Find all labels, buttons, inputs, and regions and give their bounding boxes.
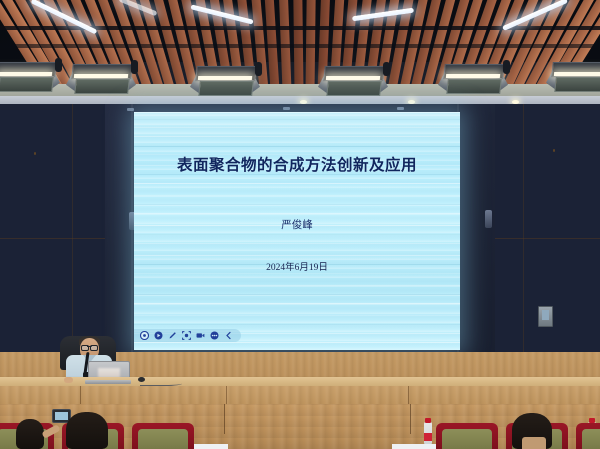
- scanline: [134, 213, 460, 214]
- audience-person: [16, 419, 44, 449]
- zoom-region-icon[interactable]: [182, 331, 191, 340]
- scanline: [134, 119, 460, 120]
- ceiling: [0, 0, 600, 104]
- stage-light: [0, 62, 58, 92]
- audience-chair: [132, 423, 194, 449]
- ceiling-mount: [397, 107, 404, 110]
- next-slide-icon[interactable]: [154, 331, 163, 340]
- previous-slide-icon[interactable]: [140, 331, 149, 340]
- scanline: [134, 127, 460, 128]
- more-options-icon[interactable]: [210, 331, 219, 340]
- presenter-glasses: [81, 345, 98, 349]
- scanline: [134, 146, 460, 147]
- scanline: [134, 183, 460, 184]
- desk-paper: [392, 444, 436, 449]
- stage-light: [68, 64, 134, 94]
- slide-date: 2024年6月19日: [134, 259, 460, 273]
- water-bottle: [424, 422, 432, 444]
- stage-light: [548, 62, 600, 92]
- audience-area: [0, 404, 600, 449]
- scanline: [134, 285, 460, 286]
- scanline: [134, 294, 460, 295]
- scanline: [134, 324, 460, 325]
- scanline: [134, 195, 460, 196]
- audience-person: [66, 412, 108, 449]
- audience-chair: [576, 423, 600, 449]
- scanline: [134, 136, 460, 137]
- scanline: [134, 234, 460, 235]
- presenter-left-hand: [64, 377, 73, 383]
- stage-light: [192, 66, 258, 96]
- wall-speaker: [485, 210, 492, 228]
- audience-chair: [436, 423, 498, 449]
- projection-screen: 表面聚合物的合成方法创新及应用 严俊峰 2024年6月19日: [134, 112, 460, 350]
- scanline: [134, 243, 460, 244]
- pen-annotate-icon[interactable]: [168, 331, 177, 340]
- left-wood-wall: [0, 104, 105, 374]
- lecture-hall-photo: 表面聚合物的合成方法创新及应用 严俊峰 2024年6月19日: [0, 0, 600, 449]
- stage-light: [440, 64, 506, 94]
- presenter-view-icon[interactable]: [196, 331, 205, 340]
- slide-title: 表面聚合物的合成方法创新及应用: [134, 153, 460, 175]
- wall-control-panel[interactable]: [538, 306, 553, 327]
- scanline: [134, 315, 460, 316]
- right-wood-wall: [495, 104, 600, 374]
- slideshow-toolbar[interactable]: [134, 329, 241, 342]
- ceiling-beam: [0, 44, 600, 48]
- ceiling-mount: [283, 107, 290, 110]
- scanline: [134, 342, 460, 343]
- scanline: [134, 303, 460, 304]
- scanline: [134, 204, 460, 205]
- collapse-toolbar-icon[interactable]: [224, 331, 233, 340]
- ceiling-mount: [127, 108, 134, 111]
- scanline: [134, 255, 460, 256]
- presenter-laptop-base: [85, 380, 131, 384]
- scanline: [134, 273, 460, 274]
- stage-light: [320, 66, 386, 96]
- slide-author: 严俊峰: [134, 217, 460, 232]
